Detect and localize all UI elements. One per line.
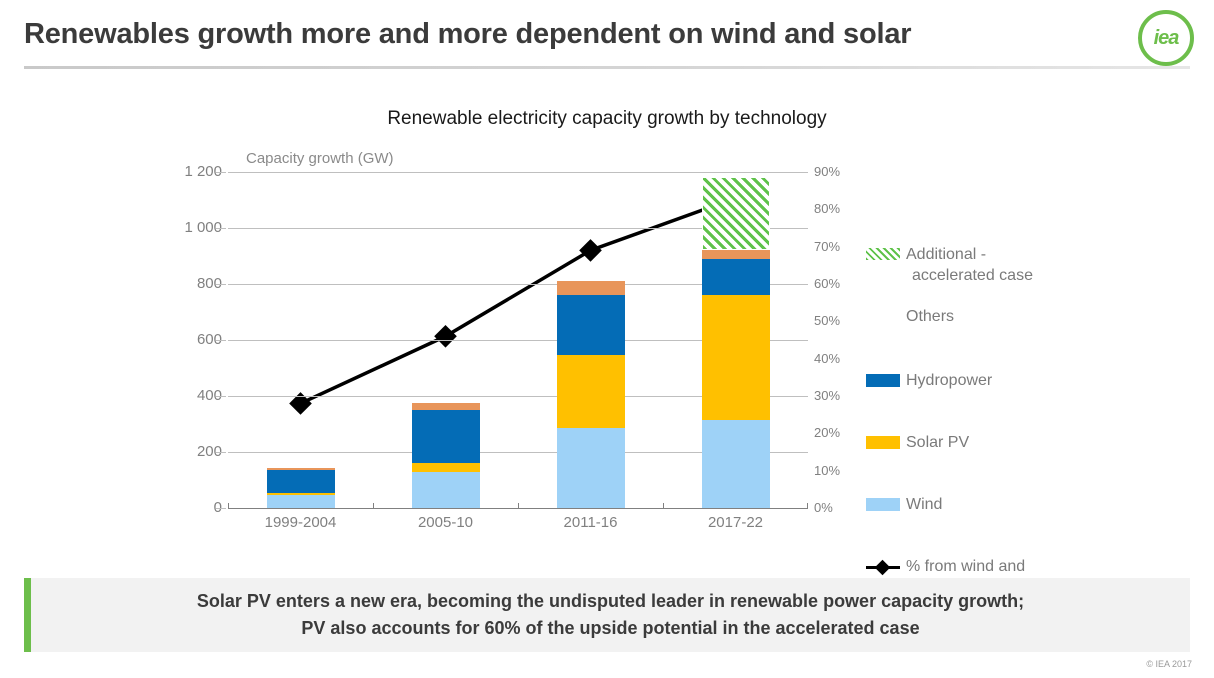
bar-stack — [267, 172, 335, 508]
y-axis-tick-mark — [216, 508, 226, 509]
bar-segment-wind — [267, 495, 335, 508]
bar-segment-solar — [412, 463, 480, 471]
chart-container: Renewable electricity capacity growth by… — [0, 72, 1214, 562]
legend-label: Hydropower — [906, 370, 992, 391]
legend-label: Others — [906, 306, 954, 327]
bar-segment-hydro — [702, 259, 770, 295]
legend-label: Wind — [906, 494, 942, 515]
bar-segment-hydro — [267, 470, 335, 492]
legend-label: Additional -accelerated case — [906, 244, 1033, 286]
y2-axis-tick: 40% — [814, 351, 860, 366]
legend-label-line-1: Solar PV — [906, 432, 969, 453]
bar-segment-solar — [702, 295, 770, 420]
bar-stack — [557, 172, 625, 508]
y-axis-tick-mark — [216, 452, 226, 453]
y-axis-tick: 200 — [162, 443, 222, 460]
bar-segment-additional — [702, 177, 770, 250]
header-divider — [24, 66, 1190, 69]
bar-segment-hydro — [412, 410, 480, 463]
legend-label: Solar PV — [906, 432, 969, 453]
legend-label-line-2: accelerated case — [906, 265, 1033, 286]
legend-item-wind[interactable]: Wind — [866, 494, 942, 515]
legend-swatch-line-icon — [866, 560, 900, 573]
y2-axis-tick: 30% — [814, 388, 860, 403]
slide-header: Renewables growth more and more dependen… — [0, 0, 1214, 72]
page-title: Renewables growth more and more dependen… — [24, 18, 1114, 51]
takeaway-banner: Solar PV enters a new era, becoming the … — [24, 578, 1190, 652]
slide: Renewables growth more and more dependen… — [0, 0, 1214, 678]
bar-segment-others — [557, 281, 625, 295]
banner-line-2: PV also accounts for 60% of the upside p… — [301, 615, 919, 642]
legend-swatch-others-icon — [866, 310, 900, 323]
copyright-notice: © IEA 2017 — [1146, 659, 1192, 669]
legend-swatch-additional-icon — [866, 248, 900, 260]
x-axis-separator — [373, 503, 374, 509]
legend-label-line-1: % from wind and — [906, 556, 1052, 577]
y2-axis-tick: 20% — [814, 425, 860, 440]
y2-axis-tick: 60% — [814, 276, 860, 291]
legend-swatch-solar-icon — [866, 436, 900, 449]
y2-axis-tick: 90% — [814, 164, 860, 179]
y-axis-tick: 400 — [162, 387, 222, 404]
legend-item-solar[interactable]: Solar PV — [866, 432, 969, 453]
y-axis-tick: 800 — [162, 275, 222, 292]
bar-segment-wind — [702, 420, 770, 508]
y-axis-tick: 1 000 — [162, 219, 222, 236]
x-axis-tick: 2011-16 — [531, 514, 651, 531]
y-axis-tick-mark — [216, 172, 226, 173]
y-axis-label: Capacity growth (GW) — [246, 150, 394, 167]
y2-axis-tick: 80% — [814, 201, 860, 216]
y2-axis-tick: 70% — [814, 239, 860, 254]
y-axis-tick-mark — [216, 284, 226, 285]
bar-segment-wind — [412, 472, 480, 508]
y-axis-tick: 0 — [162, 499, 222, 516]
bar-segment-wind — [557, 428, 625, 508]
legend-item-others[interactable]: Others — [866, 306, 954, 327]
y-axis-tick-mark — [216, 340, 226, 341]
legend-item-hydro[interactable]: Hydropower — [866, 370, 992, 391]
bar-segment-hydro — [557, 295, 625, 354]
legend-label-line-1: Additional - — [906, 244, 1033, 265]
legend-label-line-1: Wind — [906, 494, 942, 515]
x-axis-tick: 2017-22 — [676, 514, 796, 531]
legend-item-additional[interactable]: Additional -accelerated case — [866, 244, 1033, 286]
x-axis-separator — [807, 503, 808, 509]
plot-area: 02004006008001 0001 2000%10%20%30%40%50%… — [228, 172, 808, 518]
bar-stack — [702, 172, 770, 508]
chart-title: Renewable electricity capacity growth by… — [0, 108, 1214, 130]
legend-label-line-1: Others — [906, 306, 954, 327]
x-axis-separator — [663, 503, 664, 509]
banner-line-1: Solar PV enters a new era, becoming the … — [197, 588, 1024, 615]
bar-segment-solar — [267, 493, 335, 495]
legend-swatch-wind-icon — [866, 498, 900, 511]
bar-stack — [412, 172, 480, 508]
y-axis-tick-mark — [216, 396, 226, 397]
bar-segment-solar — [557, 355, 625, 428]
bar-segment-others — [412, 403, 480, 410]
y-axis-tick: 600 — [162, 331, 222, 348]
banner-text: Solar PV enters a new era, becoming the … — [31, 578, 1190, 652]
legend-swatch-hydro-icon — [866, 374, 900, 387]
x-axis-separator — [228, 503, 229, 509]
iea-logo-icon: iea — [1138, 10, 1194, 66]
y-axis-tick-mark — [216, 228, 226, 229]
legend-label-line-1: Hydropower — [906, 370, 992, 391]
x-axis-tick: 1999-2004 — [241, 514, 361, 531]
bar-segment-others — [267, 468, 335, 471]
bar-segment-others — [702, 250, 770, 259]
y2-axis-tick: 0% — [814, 500, 860, 515]
x-axis-tick: 2005-10 — [386, 514, 506, 531]
y-axis-tick: 1 200 — [162, 163, 222, 180]
y2-axis-tick: 50% — [814, 313, 860, 328]
y2-axis-tick: 10% — [814, 463, 860, 478]
x-axis-separator — [518, 503, 519, 509]
iea-logo-text: iea — [1154, 28, 1179, 48]
banner-accent-bar — [24, 578, 31, 652]
